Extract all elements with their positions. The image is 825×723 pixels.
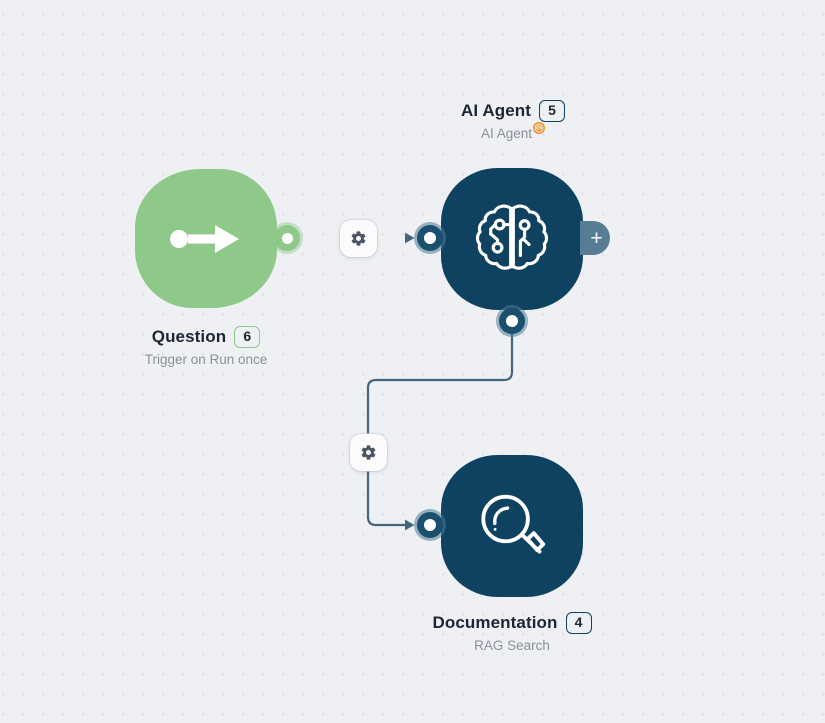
gear-icon: [360, 444, 377, 461]
brain-icon: [470, 197, 554, 281]
ai-agent-add-node-button[interactable]: +: [580, 221, 610, 255]
gear-icon: [350, 230, 367, 247]
node-documentation-title: Documentation: [432, 613, 557, 633]
node-documentation-subtitle: RAG Search: [474, 638, 550, 653]
node-ai-agent[interactable]: [441, 168, 583, 310]
trigger-arrow-icon: [169, 222, 243, 256]
node-ai-agent-badge: 5: [539, 100, 565, 122]
node-ai-agent-label: AI Agent 5 AI Agent $: [343, 100, 683, 143]
node-question-label: Question 6 Trigger on Run once: [36, 326, 376, 369]
question-output-connector[interactable]: [274, 225, 300, 251]
node-documentation-badge: 4: [566, 612, 592, 634]
node-documentation[interactable]: [441, 455, 583, 597]
ai-agent-input-connector[interactable]: [417, 225, 443, 251]
ai-agent-tool-output-connector[interactable]: [499, 308, 525, 334]
node-question-title: Question: [152, 327, 226, 347]
node-question-badge: 6: [234, 326, 260, 348]
node-ai-agent-title-row: AI Agent 5: [343, 100, 683, 122]
node-question-body[interactable]: [135, 169, 277, 308]
node-question[interactable]: [135, 169, 277, 308]
node-ai-agent-subtitle-row: AI Agent $: [481, 126, 545, 141]
edge-settings-button-ai-agent-documentation[interactable]: [350, 434, 387, 471]
workflow-canvas[interactable]: Question 6 Trigger on Run once: [0, 0, 825, 723]
node-question-subtitle: Trigger on Run once: [145, 352, 268, 367]
node-documentation-label: Documentation 4 RAG Search: [342, 612, 682, 655]
svg-text:$: $: [537, 126, 540, 132]
node-documentation-subtitle-row: RAG Search: [474, 638, 550, 653]
coin-dollar-icon: $: [533, 122, 545, 137]
edge-settings-button-question-ai-agent[interactable]: [340, 220, 377, 257]
node-question-subtitle-row: Trigger on Run once: [145, 352, 268, 367]
node-ai-agent-title: AI Agent: [461, 101, 531, 121]
magnifier-icon: [471, 485, 553, 567]
node-documentation-body[interactable]: [441, 455, 583, 597]
node-ai-agent-body[interactable]: [441, 168, 583, 310]
node-ai-agent-subtitle: AI Agent: [481, 126, 532, 141]
documentation-input-connector[interactable]: [417, 512, 443, 538]
node-documentation-title-row: Documentation 4: [342, 612, 682, 634]
node-question-title-row: Question 6: [36, 326, 376, 348]
